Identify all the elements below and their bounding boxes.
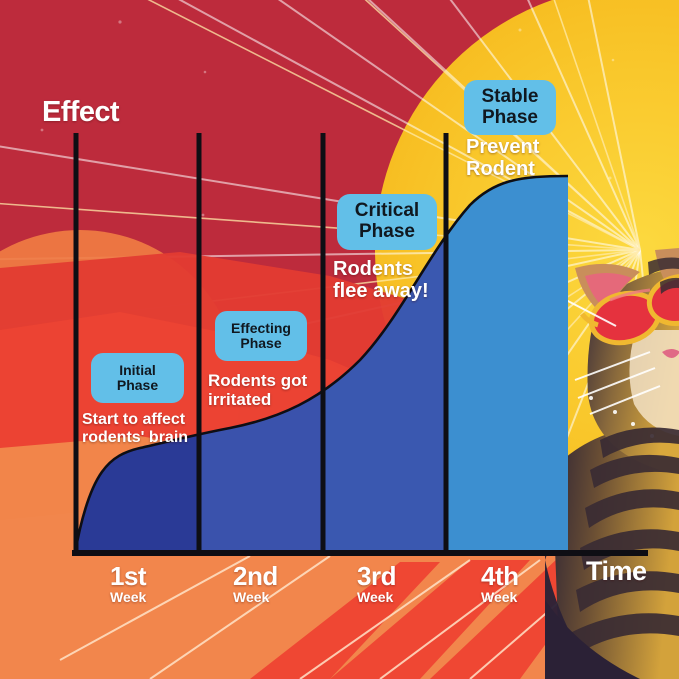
phase-badge-critical[interactable]: Critical Phase: [337, 194, 437, 250]
week-word: Week: [110, 589, 146, 607]
badge-line-1: Stable: [481, 86, 538, 107]
phase-subtitle-initial: Start to affect rodents' brain: [82, 411, 212, 447]
badge-line-1: Initial: [119, 362, 156, 378]
badge-line-1: Critical: [355, 200, 419, 221]
badge-line-2: Phase: [482, 107, 538, 128]
x-tick-week-4: 4th Week: [481, 563, 519, 607]
x-tick-week-3: 3rd Week: [357, 563, 396, 607]
badge-line-2: Phase: [240, 335, 281, 351]
week-number: 2nd: [233, 563, 278, 589]
week-number: 4th: [481, 563, 519, 589]
phase-subtitle-stable: Prevent Rodent: [466, 136, 568, 181]
badge-line-2: Phase: [359, 221, 415, 242]
phase-badge-initial[interactable]: Initial Phase: [91, 353, 184, 403]
week-number: 3rd: [357, 563, 396, 589]
phase-subtitle-effecting: Rodents got irritated: [208, 371, 334, 409]
week-word: Week: [357, 589, 396, 607]
phase-badge-stable[interactable]: Stable Phase: [464, 80, 556, 135]
x-axis-label: Time: [586, 556, 647, 587]
week-word: Week: [233, 589, 278, 607]
badge-line-1: Effecting: [231, 320, 291, 336]
phase-subtitle-critical: Rodents flee away!: [333, 258, 443, 303]
badge-line-2: Phase: [117, 377, 158, 393]
y-axis-label: Effect: [42, 96, 119, 129]
infographic-poster: Effect Time Initial Phase Effecting Phas…: [0, 0, 679, 679]
week-word: Week: [481, 589, 519, 607]
week-number: 1st: [110, 563, 146, 589]
x-tick-week-2: 2nd Week: [233, 563, 278, 607]
x-tick-week-1: 1st Week: [110, 563, 146, 607]
phase-badge-effecting[interactable]: Effecting Phase: [215, 311, 307, 361]
